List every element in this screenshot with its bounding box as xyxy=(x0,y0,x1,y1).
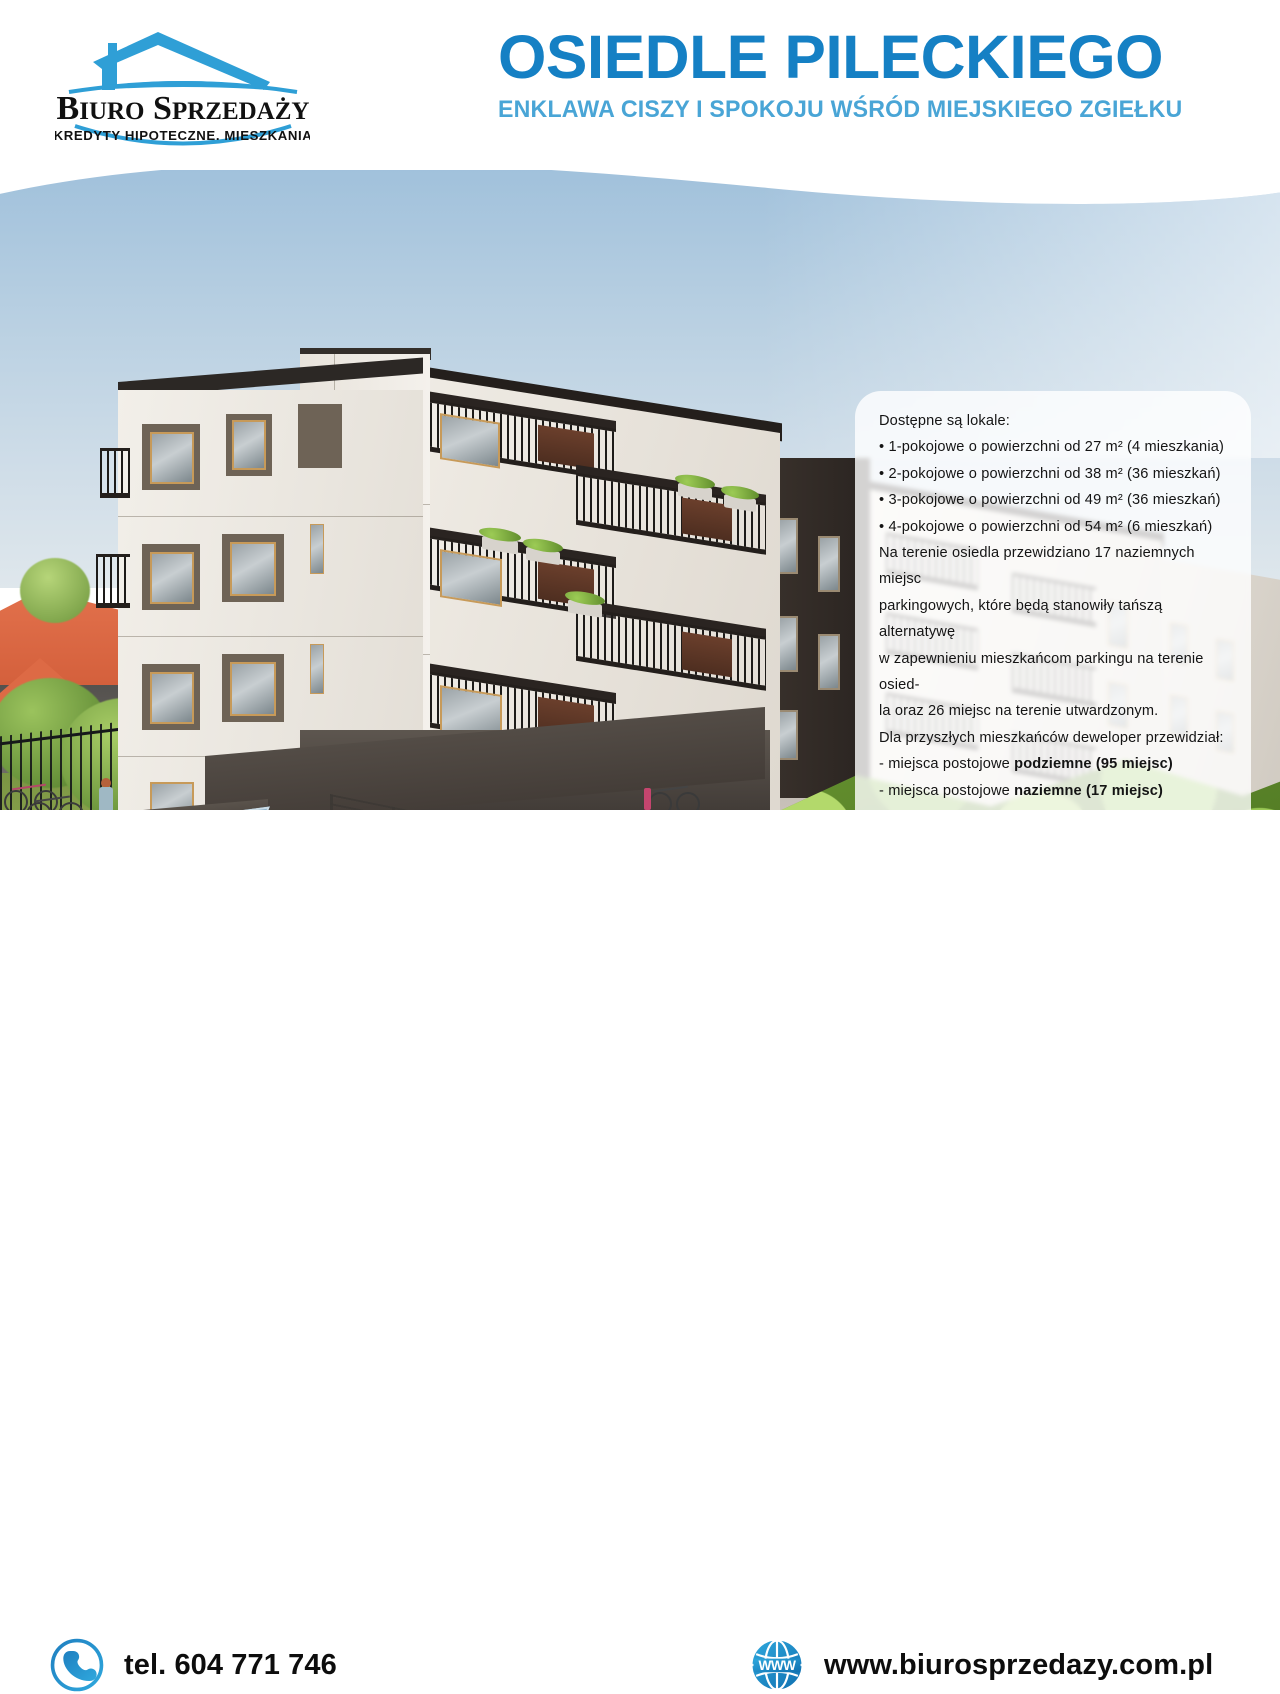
title-block: OSIEDLE PILECKIEGO ENKLAWA CISZY I SPOKO… xyxy=(498,28,1198,122)
svg-text:WWW: WWW xyxy=(758,1658,796,1673)
phone-contact[interactable]: tel. 604 771 746 xyxy=(48,1636,337,1694)
underground-prefix: - miejsca postojowe xyxy=(879,756,1014,772)
panel-underground-spots: - miejsca postojowe podziemne (95 miejsc… xyxy=(879,751,1231,777)
panel-bullet-3: • 3-pokojowe o powierzchni od 49 m² (36 … xyxy=(879,487,1231,513)
overground-prefix: - miejsca postojowe xyxy=(879,783,1014,799)
panel-overground-spots: - miejsca postojowe naziemne (17 miejsc) xyxy=(879,778,1231,804)
globe-www-icon: WWW xyxy=(748,1636,806,1694)
balcony-side xyxy=(96,554,130,608)
svg-text:BIURO SPRZEDAŻY: BIURO SPRZEDAŻY xyxy=(57,90,310,127)
panel-developer-intro: Dla przyszłych mieszkańców deweloper prz… xyxy=(879,725,1231,751)
panel-intro: Dostępne są lokale: xyxy=(879,408,1231,434)
logo-graphic: BIURO SPRZEDAŻY KREDYTY HIPOTECZNE. MIES… xyxy=(55,22,310,150)
panel-parking-line-2: parkingowych, które będą stanowiły tańsz… xyxy=(879,593,1231,646)
company-logo[interactable]: BIURO SPRZEDAŻY KREDYTY HIPOTECZNE. MIES… xyxy=(55,22,310,150)
tree xyxy=(20,558,90,623)
panel-bullet-2: • 2-pokojowe o powierzchni od 38 m² (36 … xyxy=(879,461,1231,487)
page-subtitle: ENKLAWA CISZY I SPOKOJU WŚRÓD MIEJSKIEGO… xyxy=(498,98,1160,123)
bicycle xyxy=(26,790,86,810)
overground-value: naziemne (17 miejsc) xyxy=(1014,783,1163,799)
bicycle xyxy=(648,782,702,810)
panel-parking-line-4: la oraz 26 miejsc na terenie utwardzonym… xyxy=(879,698,1231,724)
panel-bullet-4: • 4-pokojowe o powierzchni od 54 m² (6 m… xyxy=(879,514,1231,540)
panel-parking-line-1: Na terenie osiedla przewidziano 17 nazie… xyxy=(879,540,1231,593)
phone-icon xyxy=(48,1636,106,1694)
phone-number: tel. 604 771 746 xyxy=(124,1649,337,1682)
hero-image: PILECKIEGO 1 xyxy=(0,158,1280,810)
svg-text:KREDYTY HIPOTECZNE. MIESZKANIA: KREDYTY HIPOTECZNE. MIESZKANIA xyxy=(55,128,310,143)
panel-parking-line-3: w zapewnieniu mieszkańcom parkingu na te… xyxy=(879,646,1231,699)
flyer-page: BIURO SPRZEDAŻY KREDYTY HIPOTECZNE. MIES… xyxy=(0,0,1280,905)
underground-value: podziemne (95 miejsc) xyxy=(1014,756,1173,772)
balcony-side xyxy=(100,448,130,498)
website-url: www.biurosprzedazy.com.pl xyxy=(824,1649,1213,1682)
info-panel: Dostępne są lokale: • 1-pokojowe o powie… xyxy=(855,391,1251,810)
person xyxy=(98,778,114,810)
header: BIURO SPRZEDAŻY KREDYTY HIPOTECZNE. MIES… xyxy=(0,0,1280,170)
footer: tel. 604 771 746 xyxy=(0,810,1280,905)
info-panel-text: Dostępne są lokale: • 1-pokojowe o powie… xyxy=(879,408,1231,810)
page-title: OSIEDLE PILECKIEGO xyxy=(498,28,1212,88)
panel-bullet-1: • 1-pokojowe o powierzchni od 27 m² (4 m… xyxy=(879,434,1231,460)
website-contact[interactable]: WWW www.biurosprzedazy.com.pl xyxy=(748,1636,1213,1694)
